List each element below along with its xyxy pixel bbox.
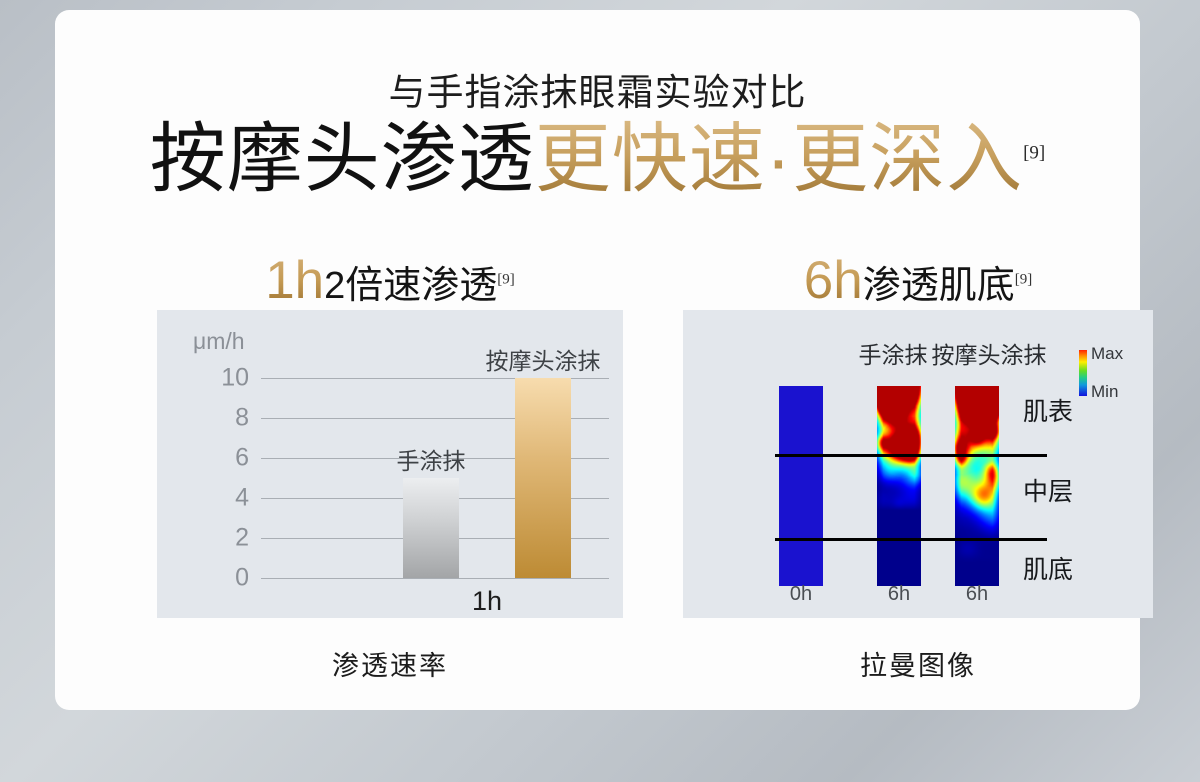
- y-tick-label: 10: [209, 364, 249, 393]
- depth-zone-label-2: 肌底: [1023, 550, 1073, 586]
- right-chart-caption: 拉曼图像: [683, 644, 1153, 683]
- raman-intensity-map: [955, 386, 999, 586]
- y-tick-label: 0: [209, 564, 249, 593]
- raman-group-label-massage: 按摩头涂抹: [932, 336, 1047, 370]
- depth-boundary-line: [775, 538, 1047, 541]
- penetration-rate-bar-chart: μm/h 0246810 手涂抹按摩头涂抹1h: [157, 310, 623, 618]
- left-subtitle: 1h2倍速渗透[9]: [157, 250, 623, 310]
- raman-group-label-hand: 手涂抹: [859, 336, 928, 370]
- right-subtitle-footnote-marker: [9]: [1015, 272, 1033, 288]
- content-card: 与手指涂抹眼霜实验对比 按摩头渗透更快速·更深入[9] 1h2倍速渗透[9] μ…: [55, 10, 1140, 710]
- gridline: [261, 578, 609, 579]
- raman-time-label: 6h: [888, 583, 910, 606]
- bar-hand: [403, 478, 459, 578]
- depth-zone-label-1: 中层: [1023, 472, 1073, 508]
- raman-strip-6h-1: [877, 386, 921, 586]
- right-subtitle-text: 渗透肌底: [863, 265, 1015, 307]
- left-chart-caption: 渗透速率: [157, 644, 623, 683]
- headline-gold-part: 更快速·更深入: [535, 117, 1023, 202]
- left-subtitle-number: 1h: [265, 251, 324, 310]
- eyebrow-text: 与手指涂抹眼霜实验对比: [55, 62, 1140, 116]
- y-axis: 0246810: [187, 310, 249, 618]
- colorbar-min-label: Min: [1091, 382, 1118, 402]
- x-axis-label: 1h: [472, 586, 502, 617]
- right-chart-column: 6h渗透肌底[9] 手涂抹 按摩头涂抹 Max Min 肌表中层肌底 0h6h6…: [683, 250, 1153, 683]
- colorbar-max-label: Max: [1091, 344, 1123, 364]
- y-tick-label: 6: [209, 444, 249, 473]
- colorbar-gradient: [1079, 350, 1087, 396]
- raman-time-label: 6h: [966, 583, 988, 606]
- page-title: 按摩头渗透更快速·更深入[9]: [55, 120, 1140, 200]
- left-chart-column: 1h2倍速渗透[9] μm/h 0246810 手涂抹按摩头涂抹1h 渗透速率: [157, 250, 623, 683]
- left-subtitle-text: 2倍速渗透: [324, 265, 497, 307]
- raman-intensity-map: [877, 386, 921, 586]
- right-subtitle-number: 6h: [804, 251, 863, 310]
- raman-time-label: 0h: [790, 583, 812, 606]
- bar-series-label: 按摩头涂抹: [486, 342, 601, 376]
- bar-series-label: 手涂抹: [397, 442, 466, 476]
- depth-boundary-line: [775, 454, 1047, 457]
- raman-strip-0h-0: [779, 386, 823, 586]
- left-subtitle-footnote-marker: [9]: [497, 272, 515, 288]
- bar-massage-head: [515, 378, 571, 578]
- depth-zone-label-0: 肌表: [1023, 392, 1073, 428]
- right-subtitle: 6h渗透肌底[9]: [683, 250, 1153, 310]
- y-tick-label: 4: [209, 484, 249, 513]
- raman-strip-6h-2: [955, 386, 999, 586]
- y-tick-label: 2: [209, 524, 249, 553]
- headline-dark-part: 按摩头渗透: [150, 117, 535, 202]
- headline-footnote-marker: [9]: [1023, 143, 1045, 164]
- bar-plot-area: 手涂抹按摩头涂抹1h: [261, 310, 609, 618]
- y-tick-label: 8: [209, 404, 249, 433]
- raman-image-heatmap: 手涂抹 按摩头涂抹 Max Min 肌表中层肌底 0h6h6h: [683, 310, 1153, 618]
